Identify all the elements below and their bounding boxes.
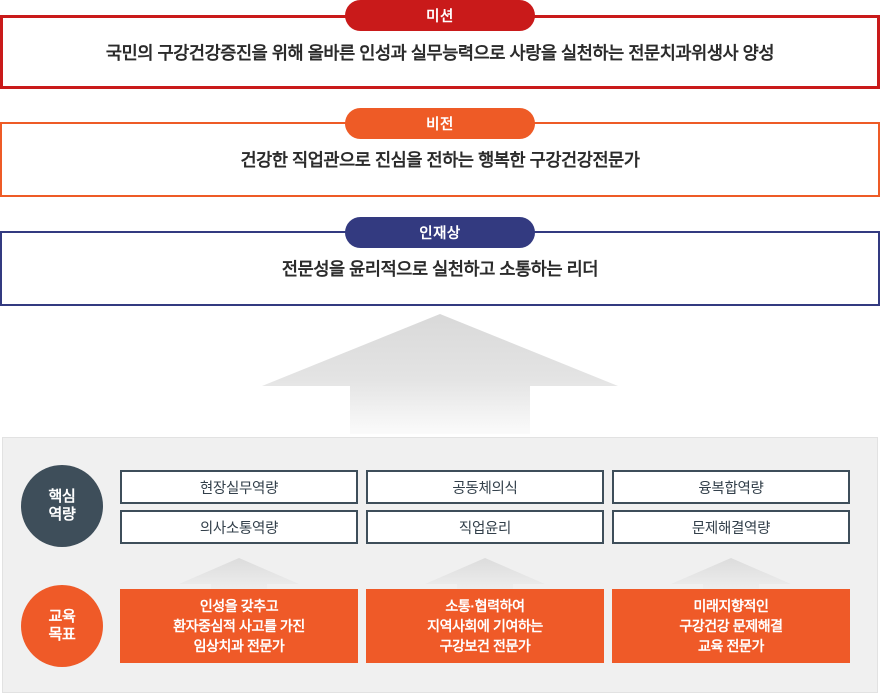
talent-text: 전문성을 윤리적으로 실천하고 소통하는 리더 [282, 256, 598, 281]
education-goal-line: 구강건강 문제해결 [679, 616, 782, 636]
education-goal-line: 지역사회에 기여하는 [427, 616, 543, 636]
education-goal-line: 인성을 갖추고 [200, 596, 278, 616]
education-goal-line: 소통·협력하여 [445, 596, 524, 616]
bottom-panel: 핵심 역량 현장실무역량 의사소통역량 공동체의식 직업윤리 융복합역량 문제해… [2, 437, 878, 693]
core-competency-label: 핵심 역량 [21, 465, 103, 547]
core-competency-label-line2: 역량 [48, 506, 75, 524]
education-goal-row: 교육 목표 인성을 갖추고 환자중심적 사고를 가진 임상치과 전문가 소통·협… [3, 580, 877, 680]
talent-badge: 인재상 [345, 217, 535, 248]
education-goal-label-line1: 교육 [48, 608, 75, 626]
core-competency-box: 현장실무역량 [120, 470, 358, 504]
mission-text: 국민의 구강건강증진을 위해 올바른 인성과 실무능력으로 사랑을 실천하는 전… [106, 40, 774, 65]
education-goal-box: 미래지향적인 구강건강 문제해결 교육 전문가 [612, 589, 850, 663]
education-goal-label-line2: 목표 [48, 626, 75, 644]
education-goal-box: 소통·협력하여 지역사회에 기여하는 구강보건 전문가 [366, 589, 604, 663]
core-competency-box: 의사소통역량 [120, 510, 358, 544]
core-competency-label-line1: 핵심 [48, 488, 75, 506]
core-competency-box: 직업윤리 [366, 510, 604, 544]
big-up-arrow-icon [262, 312, 618, 434]
core-competency-column: 융복합역량 문제해결역량 [612, 470, 850, 544]
education-goal-line: 구강보건 전문가 [440, 636, 531, 656]
vision-text: 건강한 직업관으로 진심을 전하는 행복한 구강건강전문가 [240, 147, 639, 172]
core-competency-row: 핵심 역량 현장실무역량 의사소통역량 공동체의식 직업윤리 융복합역량 문제해… [3, 456, 877, 556]
core-competency-column: 현장실무역량 의사소통역량 [120, 470, 358, 544]
education-goal-label: 교육 목표 [21, 585, 103, 667]
core-competency-columns: 현장실무역량 의사소통역량 공동체의식 직업윤리 융복합역량 문제해결역량 [120, 470, 850, 544]
mission-badge: 미션 [345, 0, 535, 31]
core-competency-box: 융복합역량 [612, 470, 850, 504]
education-goal-box: 인성을 갖추고 환자중심적 사고를 가진 임상치과 전문가 [120, 589, 358, 663]
core-competency-box: 문제해결역량 [612, 510, 850, 544]
vision-badge: 비전 [345, 108, 535, 139]
education-goal-line: 미래지향적인 [694, 596, 769, 616]
education-goal-line: 교육 전문가 [698, 636, 764, 656]
education-goal-line: 환자중심적 사고를 가진 [173, 616, 305, 636]
education-goal-line: 임상치과 전문가 [194, 636, 285, 656]
education-goal-columns: 인성을 갖추고 환자중심적 사고를 가진 임상치과 전문가 소통·협력하여 지역… [120, 589, 850, 663]
core-competency-column: 공동체의식 직업윤리 [366, 470, 604, 544]
core-competency-box: 공동체의식 [366, 470, 604, 504]
